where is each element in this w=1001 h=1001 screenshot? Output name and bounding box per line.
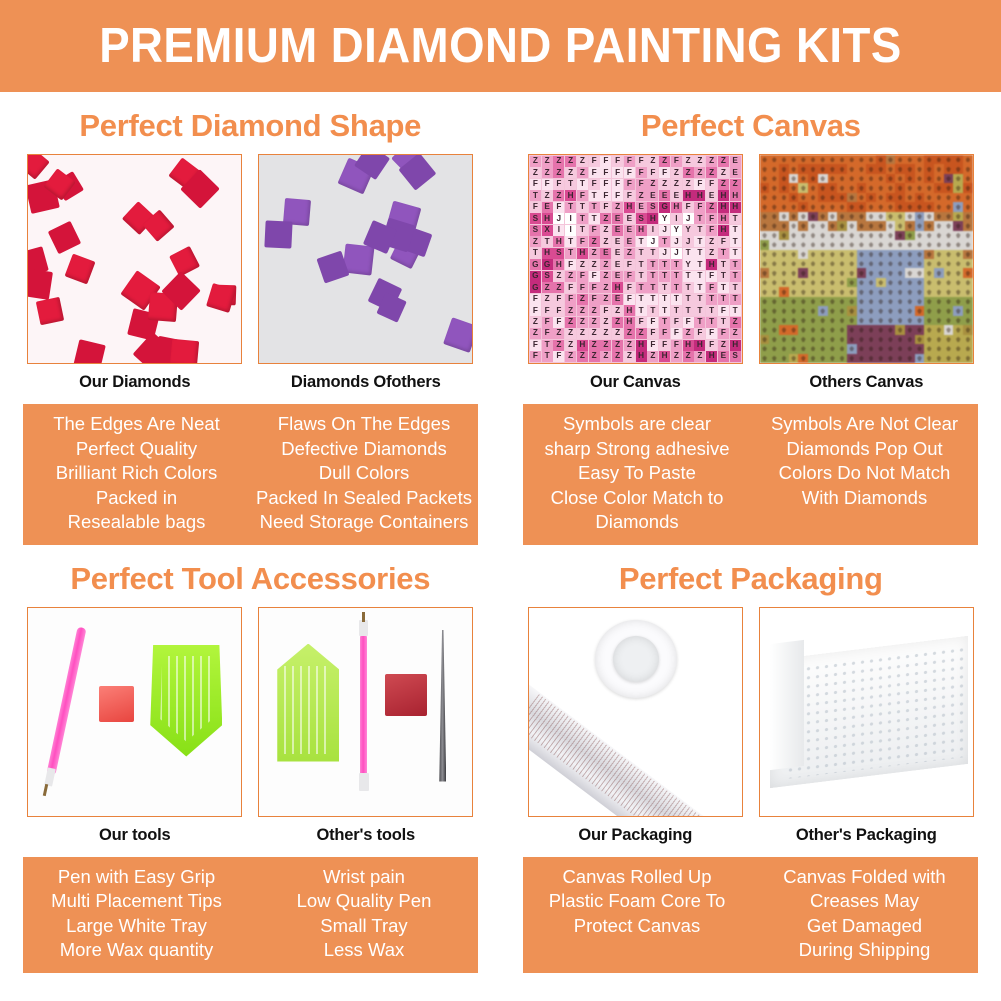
pink-pen-icon xyxy=(360,634,367,782)
canvas-symbol-cell xyxy=(944,174,954,183)
canvas-symbol-cell: Z xyxy=(577,156,588,167)
canvas-symbol-cell: T xyxy=(683,305,694,316)
canvas-symbol-cell: Z xyxy=(553,190,564,201)
canvas-symbol-cell: Z xyxy=(542,294,553,305)
canvas-symbol-cell xyxy=(779,306,789,315)
canvas-symbol-cell xyxy=(779,354,789,363)
canvas-symbol-cell: F xyxy=(577,282,588,293)
canvas-symbol-cell: F xyxy=(624,179,635,190)
canvas-symbol-cell: Z xyxy=(600,213,611,224)
canvas-symbol-cell xyxy=(934,193,944,202)
canvas-symbol-cell xyxy=(760,221,770,230)
canvas-symbol-cell xyxy=(905,344,915,353)
canvas-symbol-cell xyxy=(886,212,896,221)
feature-line: Diamonds xyxy=(526,510,748,535)
canvas-symbol-cell xyxy=(953,316,963,325)
canvas-symbol-cell: H xyxy=(718,225,729,236)
canvas-symbol-cell xyxy=(857,268,867,277)
feature-line: Flaws On The Edges xyxy=(253,412,475,437)
canvas-symbol-cell xyxy=(779,202,789,211)
canvas-symbol-cell: T xyxy=(659,282,670,293)
canvas-symbol-cell: Z xyxy=(683,167,694,178)
canvas-symbol-cell xyxy=(953,335,963,344)
canvas-symbol-cell: Z xyxy=(577,294,588,305)
canvas-symbol-cell: F xyxy=(589,282,600,293)
canvas-symbol-cell: F xyxy=(636,317,647,328)
canvas-symbol-cell xyxy=(760,231,770,240)
canvas-symbol-cell xyxy=(953,287,963,296)
canvas-symbol-cell xyxy=(953,155,963,164)
canvas-symbol-cell xyxy=(963,297,973,306)
canvas-symbol-cell xyxy=(779,297,789,306)
canvas-symbol-cell xyxy=(934,174,944,183)
canvas-symbol-cell xyxy=(808,316,818,325)
canvas-symbol-cell xyxy=(779,240,789,249)
canvas-symbol-cell: T xyxy=(589,190,600,201)
canvas-symbol-cell: T xyxy=(577,202,588,213)
canvas-symbol-cell: Z xyxy=(589,351,600,362)
canvas-symbol-cell: J xyxy=(647,236,658,247)
canvas-symbol-cell xyxy=(808,335,818,344)
canvas-symbol-cell: T xyxy=(542,236,553,247)
section-title: Perfect Packaging xyxy=(501,561,1001,597)
canvas-symbol-cell: F xyxy=(600,190,611,201)
canvas-symbol-cell xyxy=(905,306,915,315)
canvas-symbol-cell xyxy=(808,193,818,202)
canvas-symbol-cell xyxy=(847,278,857,287)
canvas-symbol-cell: F xyxy=(577,271,588,282)
canvas-symbol-cell: S xyxy=(647,202,658,213)
canvas-symbol-cell: F xyxy=(589,294,600,305)
canvas-symbol-cell: E xyxy=(636,202,647,213)
canvas-symbol-cell xyxy=(847,221,857,230)
canvas-symbol-cell: H xyxy=(683,190,694,201)
canvas-symbol-cell xyxy=(760,297,770,306)
caption-our-packaging: Our Packaging xyxy=(528,826,743,845)
canvas-symbol-cell xyxy=(944,354,954,363)
canvas-symbol-cell xyxy=(953,344,963,353)
picture-pair: Our Diamonds Diamonds Ofothers xyxy=(0,154,501,392)
canvas-symbol-cell xyxy=(963,164,973,173)
canvas-symbol-cell xyxy=(915,155,925,164)
canvas-symbol-cell: T xyxy=(694,248,705,259)
feature-line: Easy To Paste xyxy=(526,461,748,486)
canvas-symbol-cell xyxy=(895,231,905,240)
canvas-symbol-cell: T xyxy=(671,294,682,305)
canvas-symbol-cell xyxy=(915,268,925,277)
header-banner: PREMIUM DIAMOND PAINTING KITS xyxy=(0,0,1001,92)
canvas-symbol-cell xyxy=(769,287,779,296)
canvas-symbol-cell xyxy=(876,268,886,277)
canvas-symbol-cell: F xyxy=(589,225,600,236)
canvas-symbol-cell: T xyxy=(718,317,729,328)
canvas-symbol-cell: Z xyxy=(659,156,670,167)
canvas-symbol-cell xyxy=(895,335,905,344)
canvas-symbol-cell xyxy=(828,278,838,287)
canvas-symbol-cell xyxy=(808,174,818,183)
canvas-symbol-cell: Z xyxy=(553,156,564,167)
canvas-symbol-cell: F xyxy=(565,294,576,305)
picture-cell-our-diamonds: Our Diamonds xyxy=(27,154,242,392)
canvas-symbol-cell xyxy=(866,268,876,277)
canvas-symbol-cell xyxy=(818,268,828,277)
canvas-symbol-cell: T xyxy=(706,317,717,328)
canvas-symbol-cell xyxy=(876,221,886,230)
canvas-symbol-cell xyxy=(828,250,838,259)
canvas-symbol-cell: E xyxy=(624,213,635,224)
canvas-symbol-cell xyxy=(866,278,876,287)
canvas-symbol-cell: E xyxy=(671,190,682,201)
canvas-symbol-cell xyxy=(886,193,896,202)
mailer-flap-icon xyxy=(770,639,804,769)
canvas-symbol-cell xyxy=(779,231,789,240)
canvas-symbol-cell xyxy=(818,202,828,211)
canvas-symbol-cell xyxy=(798,202,808,211)
feature-line: Canvas Folded with xyxy=(754,865,976,890)
feature-line: Large White Tray xyxy=(26,914,248,939)
canvas-symbol-cell: Z xyxy=(730,317,741,328)
purple-diamonds-art xyxy=(259,155,472,363)
feature-col-ours: Canvas Rolled UpPlastic Foam Core ToProt… xyxy=(523,865,751,963)
caption-others-diamonds: Diamonds Ofothers xyxy=(258,373,473,392)
canvas-symbol-cell: Z xyxy=(706,248,717,259)
canvas-symbol-cell xyxy=(828,259,838,268)
canvas-symbol-cell: T xyxy=(636,259,647,270)
canvas-symbol-cell xyxy=(857,250,867,259)
canvas-symbol-cell xyxy=(818,174,828,183)
canvas-symbol-cell xyxy=(895,174,905,183)
canvas-symbol-cell xyxy=(953,259,963,268)
canvas-symbol-cell: Z xyxy=(577,305,588,316)
canvas-symbol-cell: T xyxy=(694,271,705,282)
feature-line: Close Color Match to xyxy=(526,486,748,511)
canvas-symbol-cell: Z xyxy=(542,282,553,293)
canvas-symbol-cell xyxy=(789,193,799,202)
canvas-symbol-cell xyxy=(944,221,954,230)
canvas-symbol-cell: T xyxy=(694,294,705,305)
canvas-symbol-cell: J xyxy=(659,248,670,259)
canvas-symbol-cell: Z xyxy=(577,328,588,339)
canvas-symbol-cell xyxy=(798,335,808,344)
image-others-tools xyxy=(258,607,473,817)
canvas-symbol-cell: E xyxy=(706,190,717,201)
canvas-symbol-cell xyxy=(847,287,857,296)
canvas-symbol-cell: Z xyxy=(624,328,635,339)
canvas-symbol-cell xyxy=(905,164,915,173)
canvas-symbol-cell xyxy=(760,202,770,211)
canvas-symbol-cell xyxy=(847,155,857,164)
canvas-symbol-cell xyxy=(886,174,896,183)
canvas-symbol-cell xyxy=(847,354,857,363)
canvas-symbol-cell xyxy=(828,155,838,164)
canvas-symbol-cell xyxy=(866,193,876,202)
canvas-symbol-cell xyxy=(828,268,838,277)
canvas-symbol-cell xyxy=(953,231,963,240)
canvas-symbol-cell xyxy=(963,231,973,240)
feature-col-ours: The Edges Are NeatPerfect QualityBrillia… xyxy=(23,412,251,535)
canvas-symbol-cell: Z xyxy=(706,202,717,213)
canvas-symbol-cell: F xyxy=(600,156,611,167)
canvas-symbol-cell xyxy=(944,212,954,221)
canvas-symbol-cell xyxy=(837,164,847,173)
canvas-symbol-cell xyxy=(876,306,886,315)
canvas-symbol-cell: F xyxy=(589,179,600,190)
picture-cell-our-canvas: ZZZZZFFFFFZZFZZZZEZZZZZFFFFFFFZZZZZEFFFT… xyxy=(528,154,743,392)
canvas-symbol-cell xyxy=(924,174,934,183)
image-our-packaging xyxy=(528,607,743,817)
canvas-symbol-cell xyxy=(837,193,847,202)
red-diamonds-art xyxy=(28,155,241,363)
canvas-symbol-cell xyxy=(924,297,934,306)
diamond-bead-icon xyxy=(48,221,82,255)
canvas-symbol-cell: Y xyxy=(659,213,670,224)
canvas-symbol-cell xyxy=(818,231,828,240)
canvas-symbol-cell xyxy=(837,297,847,306)
canvas-symbol-cell xyxy=(905,231,915,240)
canvas-symbol-cell xyxy=(798,316,808,325)
canvas-symbol-cell xyxy=(934,268,944,277)
canvas-symbol-cell: F xyxy=(553,179,564,190)
canvas-symbol-cell: T xyxy=(577,213,588,224)
feature-line: Brilliant Rich Colors xyxy=(26,461,248,486)
canvas-symbol-cell xyxy=(847,344,857,353)
canvas-symbol-cell xyxy=(963,316,973,325)
canvas-symbol-cell: Z xyxy=(671,167,682,178)
canvas-symbol-cell: F xyxy=(694,202,705,213)
canvas-symbol-cell: Z xyxy=(718,179,729,190)
canvas-symbol-cell: F xyxy=(553,305,564,316)
canvas-symbol-cell xyxy=(944,240,954,249)
canvas-symbol-cell: F xyxy=(671,317,682,328)
canvas-symbol-cell xyxy=(760,316,770,325)
canvas-symbol-cell: F xyxy=(624,282,635,293)
picture-cell-others-canvas: Others Canvas xyxy=(759,154,974,392)
canvas-symbol-cell xyxy=(924,344,934,353)
canvas-symbol-cell: F xyxy=(612,190,623,201)
canvas-symbol-cell: T xyxy=(694,282,705,293)
canvas-symbol-cell xyxy=(857,183,867,192)
canvas-symbol-cell xyxy=(963,221,973,230)
canvas-symbol-cell xyxy=(789,202,799,211)
canvas-symbol-cell: F xyxy=(530,351,541,362)
canvas-symbol-cell xyxy=(924,155,934,164)
canvas-symbol-cell xyxy=(837,287,847,296)
caption-our-tools: Our tools xyxy=(27,826,242,845)
canvas-symbol-cell xyxy=(895,325,905,334)
canvas-symbol-cell xyxy=(760,287,770,296)
canvas-symbol-cell: Z xyxy=(553,340,564,351)
canvas-symbol-cell xyxy=(760,268,770,277)
canvas-symbol-cell xyxy=(818,155,828,164)
our-tools-art xyxy=(28,608,241,816)
canvas-symbol-cell: Z xyxy=(530,328,541,339)
canvas-symbol-cell: Z xyxy=(542,167,553,178)
canvas-symbol-cell xyxy=(934,316,944,325)
canvas-symbol-cell xyxy=(924,202,934,211)
canvas-symbol-cell xyxy=(915,354,925,363)
canvas-symbol-cell: F xyxy=(683,317,694,328)
canvas-symbol-cell xyxy=(886,183,896,192)
canvas-symbol-cell: F xyxy=(542,317,553,328)
canvas-symbol-cell xyxy=(866,335,876,344)
canvas-symbol-cell: H xyxy=(706,351,717,362)
canvas-symbol-cell: H xyxy=(636,225,647,236)
canvas-symbol-cell: H xyxy=(730,190,741,201)
canvas-symbol-cell xyxy=(876,325,886,334)
canvas-symbol-cell: F xyxy=(530,305,541,316)
canvas-symbol-cell xyxy=(915,306,925,315)
canvas-symbol-cell xyxy=(769,316,779,325)
blurry-grid-art xyxy=(760,155,973,363)
canvas-symbol-cell xyxy=(769,268,779,277)
canvas-symbol-cell: Z xyxy=(683,156,694,167)
canvas-symbol-cell: T xyxy=(565,248,576,259)
canvas-symbol-cell xyxy=(808,240,818,249)
canvas-symbol-cell: Z xyxy=(565,340,576,351)
canvas-symbol-cell xyxy=(944,278,954,287)
canvas-symbol-cell xyxy=(876,250,886,259)
canvas-symbol-cell xyxy=(837,306,847,315)
canvas-symbol-cell: T xyxy=(671,271,682,282)
feature-line: Symbols are clear xyxy=(526,412,748,437)
canvas-symbol-cell: Z xyxy=(565,317,576,328)
canvas-symbol-cell: T xyxy=(589,213,600,224)
canvas-symbol-cell xyxy=(866,259,876,268)
canvas-symbol-cell xyxy=(944,202,954,211)
canvas-symbol-cell xyxy=(905,240,915,249)
canvas-symbol-cell xyxy=(915,316,925,325)
canvas-symbol-cell: Z xyxy=(624,248,635,259)
bubble-wrap-texture-icon xyxy=(786,644,966,778)
canvas-symbol-cell: Z xyxy=(542,156,553,167)
feature-line: Perfect Quality xyxy=(26,437,248,462)
canvas-symbol-cell xyxy=(837,316,847,325)
canvas-symbol-cell: H xyxy=(553,259,564,270)
canvas-symbol-cell xyxy=(857,297,867,306)
feature-col-others: Wrist painLow Quality PenSmall TrayLess … xyxy=(250,865,478,963)
canvas-symbol-cell xyxy=(934,335,944,344)
canvas-symbol-cell xyxy=(915,335,925,344)
canvas-symbol-cell: Z xyxy=(589,259,600,270)
diamond-bead-icon xyxy=(65,253,96,284)
canvas-symbol-cell xyxy=(953,183,963,192)
canvas-symbol-cell xyxy=(798,183,808,192)
canvas-symbol-cell xyxy=(779,287,789,296)
canvas-symbol-cell: H xyxy=(636,351,647,362)
canvas-symbol-cell xyxy=(837,212,847,221)
canvas-symbol-cell: F xyxy=(647,317,658,328)
canvas-symbol-cell xyxy=(886,325,896,334)
canvas-symbol-cell: F xyxy=(706,282,717,293)
canvas-symbol-cell: Z xyxy=(694,351,705,362)
mailer-art xyxy=(760,608,973,816)
canvas-symbol-cell: Z xyxy=(706,236,717,247)
canvas-symbol-cell xyxy=(963,250,973,259)
canvas-symbol-cell: Z xyxy=(589,340,600,351)
canvas-symbol-cell xyxy=(789,183,799,192)
canvas-symbol-cell: Z xyxy=(600,236,611,247)
canvas-symbol-cell xyxy=(915,325,925,334)
canvas-symbol-cell xyxy=(847,174,857,183)
canvas-symbol-cell: F xyxy=(577,236,588,247)
canvas-symbol-cell: F xyxy=(636,167,647,178)
canvas-symbol-cell xyxy=(876,344,886,353)
canvas-symbol-cell xyxy=(857,193,867,202)
canvas-symbol-cell: E xyxy=(612,294,623,305)
canvas-symbol-cell xyxy=(789,316,799,325)
canvas-symbol-cell: T xyxy=(730,271,741,282)
canvas-symbol-cell xyxy=(886,278,896,287)
other-tools-art xyxy=(259,608,472,816)
canvas-symbol-cell xyxy=(963,193,973,202)
canvas-symbol-cell xyxy=(915,250,925,259)
canvas-symbol-cell xyxy=(924,335,934,344)
canvas-symbol-cell xyxy=(818,278,828,287)
canvas-symbol-cell xyxy=(934,325,944,334)
feature-line: Pen with Easy Grip xyxy=(26,865,248,890)
canvas-symbol-cell xyxy=(798,278,808,287)
canvas-symbol-cell: F xyxy=(624,167,635,178)
canvas-symbol-cell xyxy=(866,164,876,173)
canvas-symbol-cell xyxy=(779,278,789,287)
canvas-symbol-cell: T xyxy=(718,259,729,270)
canvas-symbol-cell xyxy=(963,278,973,287)
canvas-symbol-cell: T xyxy=(647,305,658,316)
canvas-symbol-cell: Z xyxy=(530,236,541,247)
canvas-symbol-cell xyxy=(798,287,808,296)
section-title: Perfect Diamond Shape xyxy=(0,108,501,144)
canvas-symbol-cell: F xyxy=(553,294,564,305)
canvas-symbol-cell xyxy=(963,212,973,221)
feature-col-others: Flaws On The EdgesDefective DiamondsDull… xyxy=(250,412,478,535)
canvas-symbol-cell xyxy=(924,325,934,334)
canvas-symbol-cell xyxy=(905,193,915,202)
canvas-symbol-cell: F xyxy=(565,259,576,270)
canvas-symbol-cell xyxy=(895,164,905,173)
canvas-symbol-cell: F xyxy=(706,328,717,339)
picture-pair: Our tools Other's tools xyxy=(0,607,501,845)
picture-cell-our-tools: Our tools xyxy=(27,607,242,845)
canvas-symbol-cell xyxy=(789,335,799,344)
canvas-symbol-cell: I xyxy=(553,225,564,236)
canvas-symbol-cell xyxy=(934,354,944,363)
canvas-symbol-cell xyxy=(769,278,779,287)
canvas-symbol-cell xyxy=(924,354,934,363)
canvas-symbol-cell: Z xyxy=(612,305,623,316)
canvas-symbol-cell: Z xyxy=(730,328,741,339)
canvas-symbol-cell xyxy=(934,259,944,268)
canvas-symbol-cell xyxy=(944,183,954,192)
canvas-symbol-cell: I xyxy=(565,213,576,224)
canvas-symbol-cell xyxy=(924,221,934,230)
wax-square-icon xyxy=(99,686,134,722)
canvas-symbol-cell: F xyxy=(600,202,611,213)
canvas-symbol-cell: F xyxy=(530,179,541,190)
canvas-symbol-cell: J xyxy=(659,225,670,236)
canvas-symbol-cell xyxy=(876,164,886,173)
canvas-symbol-cell: Z xyxy=(577,351,588,362)
canvas-symbol-cell xyxy=(915,344,925,353)
canvas-symbol-cell xyxy=(953,212,963,221)
canvas-symbol-cell xyxy=(924,250,934,259)
canvas-symbol-cell xyxy=(895,250,905,259)
canvas-symbol-cell: S xyxy=(530,225,541,236)
canvas-symbol-cell xyxy=(818,183,828,192)
section-title: Perfect Tool Accessories xyxy=(0,561,501,597)
canvas-symbol-cell: E xyxy=(624,225,635,236)
canvas-symbol-cell xyxy=(828,354,838,363)
image-our-diamonds xyxy=(27,154,242,364)
